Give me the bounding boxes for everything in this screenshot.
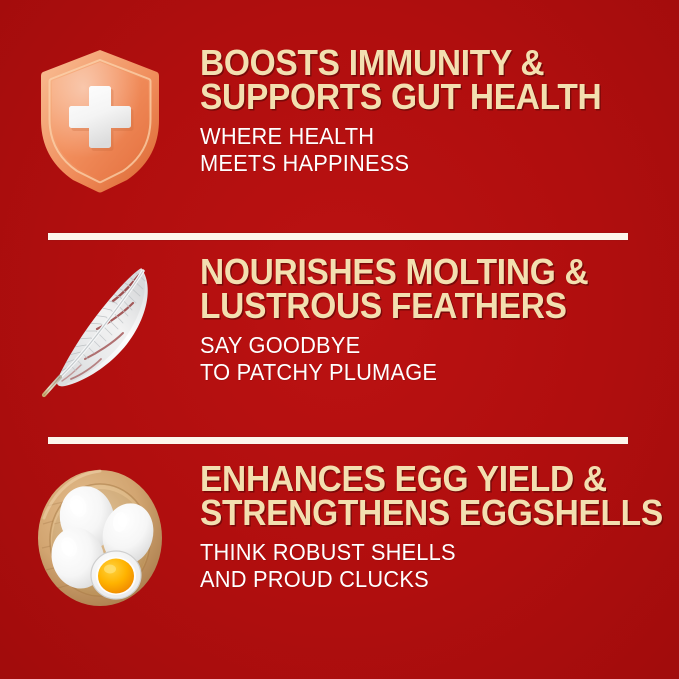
feature-text-cell: ENHANCES EGG YIELD & STRENGTHENS EGGSHEL… bbox=[200, 462, 679, 592]
subline-line-2: TO PATCHY PLUMAGE bbox=[200, 359, 647, 386]
feature-row-feathers: NOURISHES MOLTING & LUSTROUS FEATHERS SA… bbox=[0, 255, 679, 407]
section-divider bbox=[48, 233, 628, 240]
subline-line-2: AND PROUD CLUCKS bbox=[200, 566, 673, 593]
feature-text-cell: BOOSTS IMMUNITY & SUPPORTS GUT HEALTH WH… bbox=[200, 46, 679, 176]
shield-plus-icon bbox=[35, 46, 165, 196]
subline-line-1: THINK ROBUST SHELLS bbox=[200, 539, 673, 566]
headline-line-2: LUSTROUS FEATHERS bbox=[200, 289, 638, 323]
feature-text-cell: NOURISHES MOLTING & LUSTROUS FEATHERS SA… bbox=[200, 255, 679, 385]
feature-row-eggs: ENHANCES EGG YIELD & STRENGTHENS EGGSHEL… bbox=[0, 462, 679, 612]
feature-headline: ENHANCES EGG YIELD & STRENGTHENS EGGSHEL… bbox=[200, 462, 663, 530]
benefits-poster: BOOSTS IMMUNITY & SUPPORTS GUT HEALTH WH… bbox=[0, 0, 679, 679]
headline-line-1: BOOSTS IMMUNITY & bbox=[200, 46, 638, 80]
subline-line-1: WHERE HEALTH bbox=[200, 123, 647, 150]
eggs-in-bowl-icon bbox=[30, 462, 170, 612]
feature-icon-cell bbox=[0, 46, 200, 196]
feature-headline: BOOSTS IMMUNITY & SUPPORTS GUT HEALTH bbox=[200, 46, 638, 114]
headline-line-2: STRENGTHENS EGGSHELLS bbox=[200, 496, 663, 530]
subline-line-2: MEETS HAPPINESS bbox=[200, 150, 647, 177]
feature-subline: WHERE HEALTH MEETS HAPPINESS bbox=[200, 123, 647, 177]
feature-icon-cell bbox=[0, 462, 200, 612]
subline-line-1: SAY GOODBYE bbox=[200, 332, 647, 359]
feature-headline: NOURISHES MOLTING & LUSTROUS FEATHERS bbox=[200, 255, 638, 323]
feature-subline: SAY GOODBYE TO PATCHY PLUMAGE bbox=[200, 332, 647, 386]
section-divider bbox=[48, 437, 628, 444]
feather-icon bbox=[35, 255, 165, 407]
feature-icon-cell bbox=[0, 255, 200, 407]
feature-subline: THINK ROBUST SHELLS AND PROUD CLUCKS bbox=[200, 539, 673, 593]
headline-line-1: ENHANCES EGG YIELD & bbox=[200, 462, 663, 496]
headline-line-1: NOURISHES MOLTING & bbox=[200, 255, 638, 289]
feature-row-immunity: BOOSTS IMMUNITY & SUPPORTS GUT HEALTH WH… bbox=[0, 46, 679, 196]
headline-line-2: SUPPORTS GUT HEALTH bbox=[200, 80, 638, 114]
